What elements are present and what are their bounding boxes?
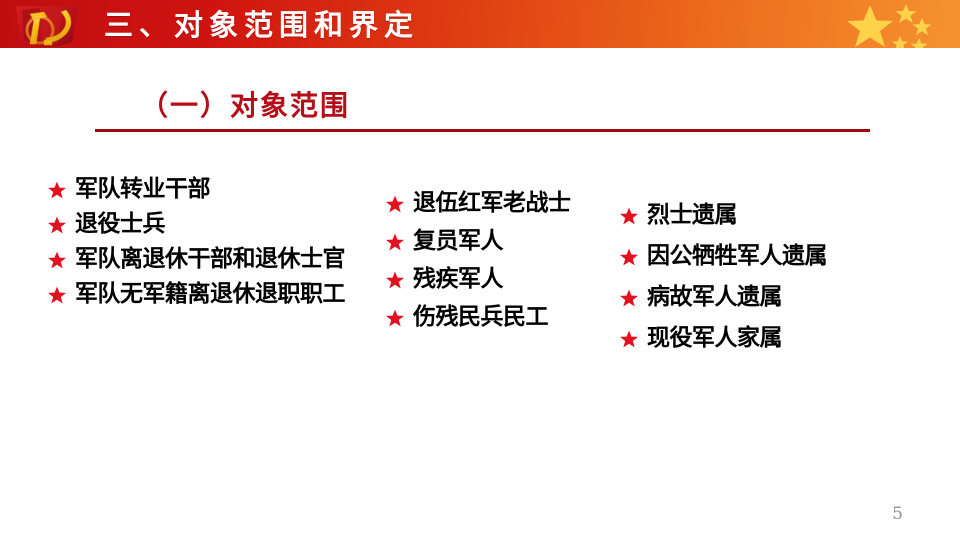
party-emblem-hammer-sickle-icon <box>0 0 96 48</box>
list-item: 伤残民兵民工 <box>386 304 611 330</box>
red-star-bullet-icon <box>620 207 638 225</box>
list-item-label: 现役军人家属 <box>647 325 782 351</box>
bullet-column-3: 烈士遗属 因公牺牲军人遗属 病故军人遗属 现役军人家属 <box>620 176 875 366</box>
list-item-label: 退伍红军老战士 <box>413 190 571 216</box>
list-item-label: 复员军人 <box>413 228 503 254</box>
bullet-column-2: 退伍红军老战士 复员军人 残疾军人 伤残民兵民工 <box>386 176 611 342</box>
red-star-bullet-icon <box>386 309 404 327</box>
list-item: 军队转业干部 <box>48 176 378 202</box>
section-subtitle: （一）对象范围 <box>140 84 350 124</box>
list-item: 退伍红军老战士 <box>386 190 611 216</box>
red-star-bullet-icon <box>48 216 66 234</box>
red-star-bullet-icon <box>386 195 404 213</box>
red-star-bullet-icon <box>48 181 66 199</box>
bullet-column-1: 军队转业干部 退役士兵 军队离退休干部和退休士官 军队无军籍离退休退职职工 <box>48 176 378 316</box>
list-item: 因公牺牲军人遗属 <box>620 243 875 269</box>
list-item-label: 伤残民兵民工 <box>413 304 548 330</box>
list-item: 复员军人 <box>386 228 611 254</box>
list-item: 残疾军人 <box>386 266 611 292</box>
list-item: 现役军人家属 <box>620 325 875 351</box>
list-item: 军队无军籍离退休退职职工 <box>48 281 378 307</box>
list-item-label: 军队转业干部 <box>75 176 210 202</box>
list-item-label: 因公牺牲军人遗属 <box>647 243 827 269</box>
list-item-label: 病故军人遗属 <box>647 284 782 310</box>
red-star-bullet-icon <box>48 251 66 269</box>
red-star-bullet-icon <box>48 286 66 304</box>
list-item: 病故军人遗属 <box>620 284 875 310</box>
list-item-label: 军队离退休干部和退休士官 <box>75 246 345 272</box>
red-star-bullet-icon <box>386 271 404 289</box>
red-star-bullet-icon <box>386 233 404 251</box>
slide-header-band: 三、对象范围和界定 <box>0 0 960 48</box>
list-item: 退役士兵 <box>48 211 378 237</box>
red-star-bullet-icon <box>620 248 638 266</box>
red-star-bullet-icon <box>620 330 638 348</box>
list-item-label: 军队无军籍离退休退职职工 <box>75 281 345 307</box>
list-item-label: 退役士兵 <box>75 211 165 237</box>
slide-header-title: 三、对象范围和界定 <box>104 2 419 48</box>
section-divider-rule <box>95 129 870 132</box>
page-number: 5 <box>892 504 903 524</box>
list-item-label: 残疾军人 <box>413 266 503 292</box>
list-item-label: 烈士遗属 <box>647 202 737 228</box>
bullet-columns-container: 军队转业干部 退役士兵 军队离退休干部和退休士官 军队无军籍离退休退职职工 <box>0 176 960 376</box>
china-flag-stars-icon <box>840 0 960 48</box>
list-item: 军队离退休干部和退休士官 <box>48 246 378 272</box>
list-item: 烈士遗属 <box>620 202 875 228</box>
red-star-bullet-icon <box>620 289 638 307</box>
